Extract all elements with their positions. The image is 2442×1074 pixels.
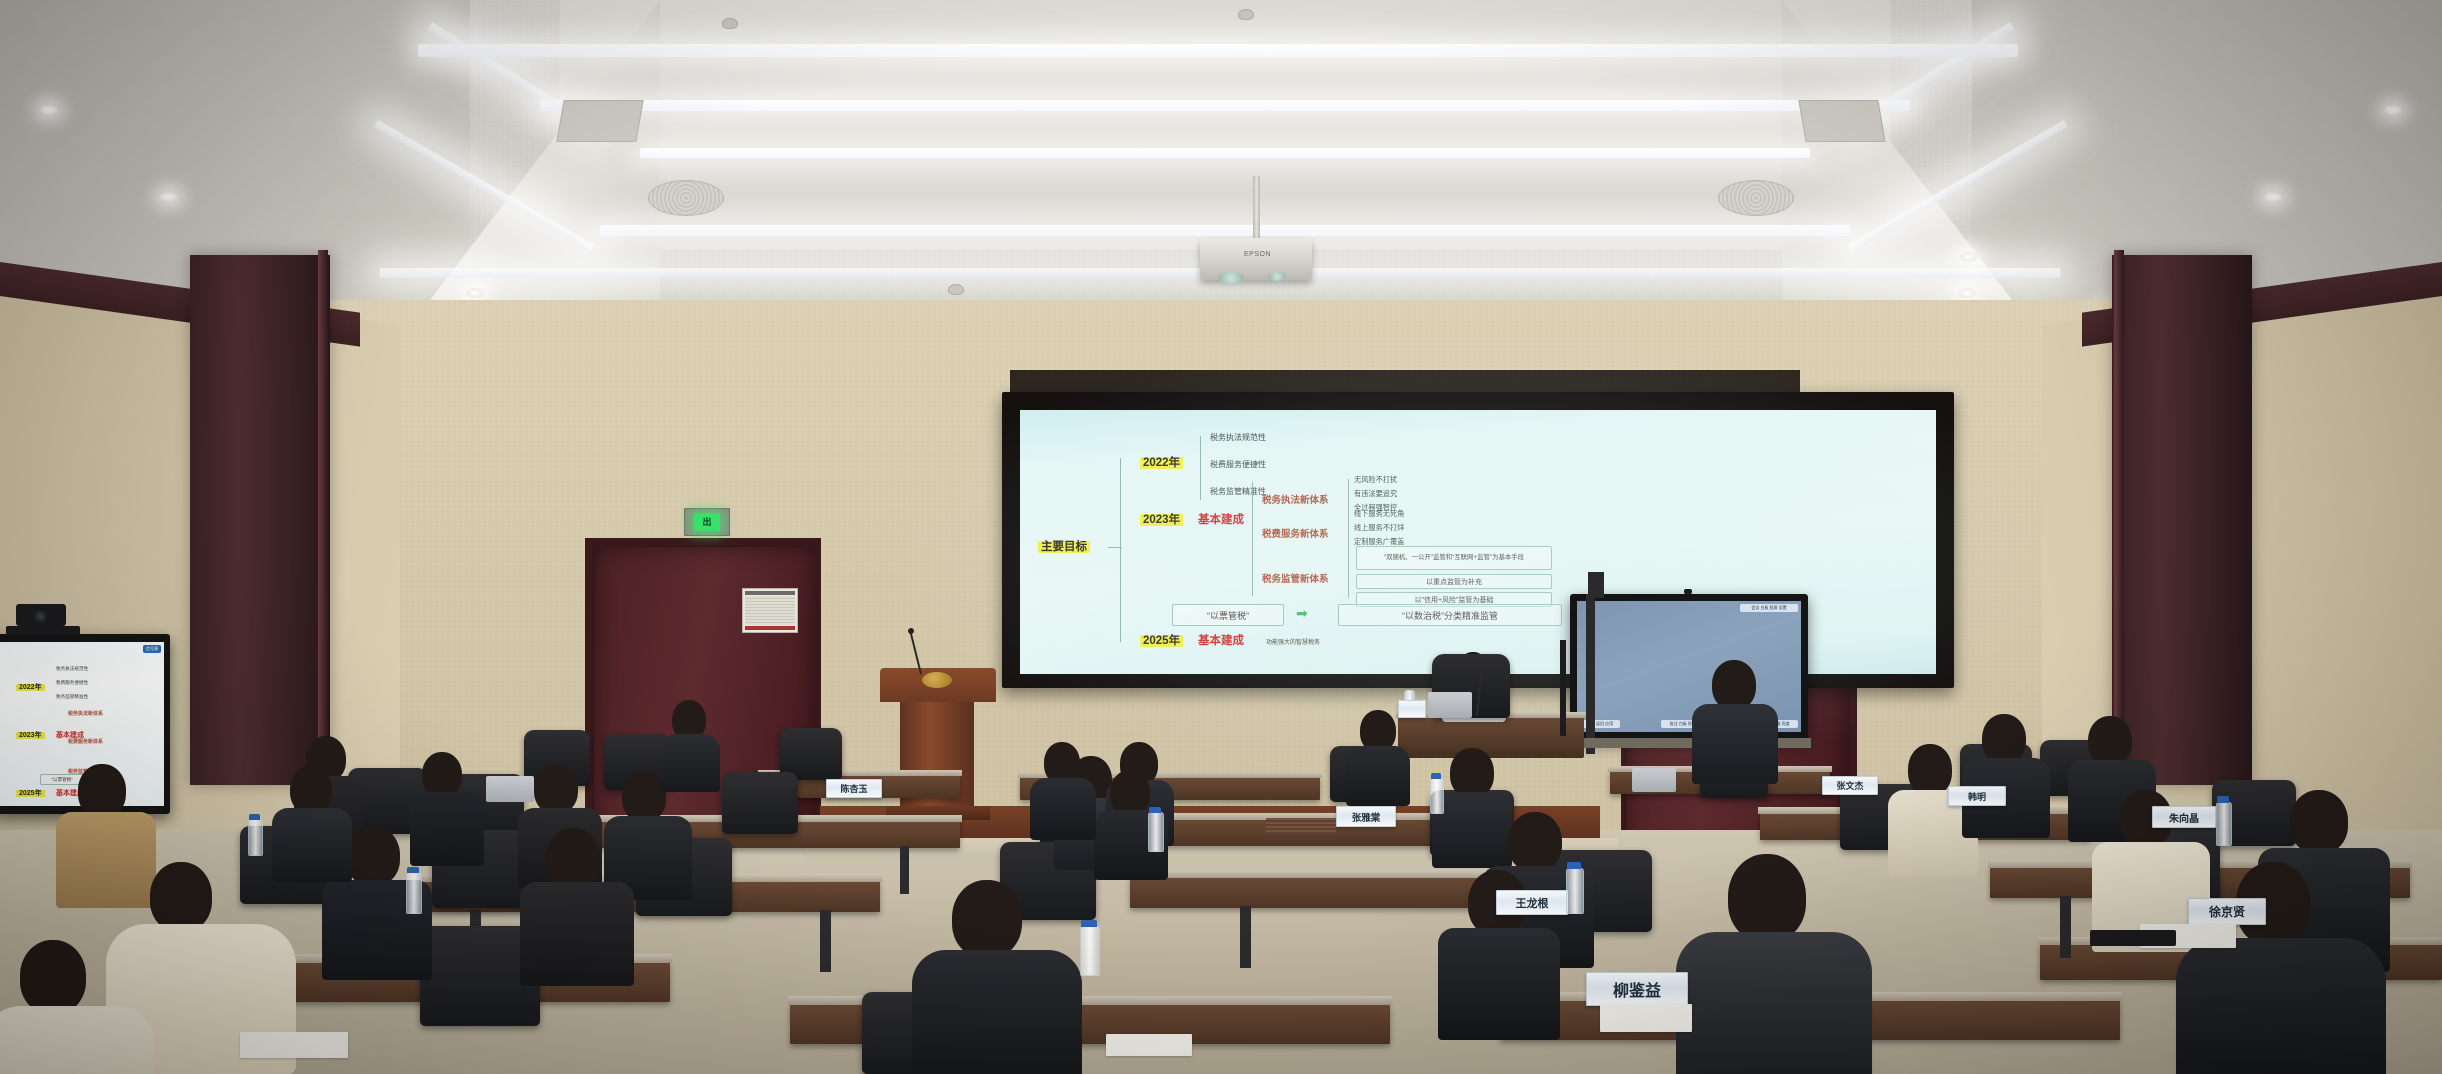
water-bottle-3-cap [1081,920,1097,927]
handout-paper-3[interactable] [240,1032,348,1058]
downlight-2 [160,192,178,202]
ceiling-round-diffuser-right [1718,180,1794,216]
attendee-28-head [290,766,332,814]
downlight-9 [1960,252,1978,262]
attendee-9-body [520,882,634,986]
attendee-25-body [1438,928,1560,1040]
evac-sign-footer-bar [745,626,795,630]
slide-2023-b1-brace [1348,513,1349,549]
exit-sign: 出 [684,508,730,536]
slide-transition-from: “以票管税” [1172,604,1284,626]
attendee-18-head [1982,714,2026,764]
water-bottle-3 [1080,926,1100,976]
slide-2023-brace [1252,482,1253,596]
handout-paper-1[interactable] [1600,1004,1692,1032]
attendee-13-body [1346,746,1410,806]
water-bottle-7 [1430,778,1444,814]
attendee-5-head [78,764,126,818]
slide-2022-item-0: 税务执法规范性 [1210,432,1266,443]
water-bottle-1-cap [249,814,260,820]
attendee-14-body [1432,792,1512,868]
attendee-14-head [1450,748,1494,798]
slide-2023-b1-item-1: 线上服务不打烊 [1354,523,1404,533]
podium-microphone-head [908,628,914,634]
nameplate-3: 柳鉴益 [1586,972,1688,1006]
slide-root-node: 主要目标 [1038,538,1090,554]
ceiling-light-strip-4 [600,225,1850,236]
left-display-2023-head-0: 税务执法新体系 [68,710,103,717]
attendee-26-body [1030,778,1096,840]
attendee-16-body [1692,704,1778,784]
chair-b3[interactable] [722,772,798,834]
attendee-27-body [660,734,720,792]
attendee-16-head [1712,660,1756,710]
left-display-source-badge[interactable]: 信号源 [143,645,161,653]
attendee-7-head [20,940,86,1014]
slide-2023-head-0: 税务执法新体系 [1262,492,1329,506]
exit-sign-glow: 出 [694,513,720,531]
downlight-5 [2384,105,2402,115]
left-display-year-2025: 2025年 [16,788,45,798]
display-toolbar-top-right[interactable]: 会议 白板 投屏 设置 [1740,604,1798,612]
left-display-transition-from: “以票管税” [40,774,84,785]
desk-leg-5 [1240,906,1251,968]
left-display-2023-head-1: 税费服务新体系 [68,738,103,745]
slide-transition-to: “以数治税”分类精准监管 [1338,604,1562,626]
slide-2023-b2-item-1: 以重点监管为补充 [1356,574,1552,589]
desk-leg-4 [820,910,831,972]
water-bottle-7-cap [1431,773,1441,779]
water-bottle-1 [248,818,263,856]
water-bottle-4-cap [1149,807,1161,813]
slide-2025-brace [1120,610,1121,642]
projector-brand-label: EPSON [1244,251,1271,258]
evacuation-plan-sign-left [742,588,798,633]
slide-2025-built-sub: 功能强大的智慧税务 [1266,637,1320,646]
nameplate-5: 徐京贤 [2188,898,2266,925]
presenter-laptop[interactable] [1428,692,1472,718]
water-bottle-5-cap [1567,862,1581,869]
camera-tripod [1560,640,1566,736]
slide-2023-b1-item-0: 线下服务无死角 [1354,509,1404,519]
attendee-15-head [1508,812,1562,872]
podium-emblem [922,672,952,688]
left-display-2022-item-0: 税务执法规范性 [56,666,88,672]
right-display-camera [1684,589,1692,594]
ceiling-tray [560,0,1890,250]
slide-2022-brace [1200,436,1201,500]
ceiling-air-vent-left [556,100,643,142]
slide-2023-b2-brace [1348,546,1349,598]
attendee-laptop-1[interactable] [486,776,534,802]
attendee-7-body [0,1006,154,1074]
right-display-stand-left [1586,594,1595,754]
projector-mount-rod [1253,176,1260,242]
ceiling-air-vent-right [1798,100,1885,142]
attendee-6-head [150,862,212,932]
wall-column-right [2112,255,2252,785]
left-display-2022-item-2: 税务监管精准性 [56,694,88,700]
water-bottle-6 [2216,802,2232,846]
smoke-detector-1 [722,18,738,29]
left-display-webcam [16,604,66,626]
evac-sign-title-bar [745,591,795,595]
projector-lens-secondary [1268,272,1286,281]
slide-2025-built: 基本建成 [1198,632,1244,648]
desk-leg-6 [2060,896,2071,958]
slide-year-2022: 2022年 [1140,454,1183,470]
nameplate-0: 陈杏玉 [826,779,882,798]
left-display-year-2022: 2022年 [16,682,45,692]
projector-body: EPSON [1200,238,1312,280]
slide-trunk-connector [1108,547,1122,548]
slide-2022-item-2: 税务监管精准性 [1210,486,1266,497]
smoke-detector-3 [948,284,964,295]
attendee-5-body [56,812,156,908]
attendee-9-head [546,828,600,888]
conference-room-photo: EPSON 出 主要目标 [0,0,2442,1074]
water-bottle-4 [1148,812,1164,852]
slide-2023-b2-item-0: “双随机、一公开”监管和“互联网+监管”为基本手段 [1356,546,1552,570]
attendee-2-body [410,792,484,866]
ceiling-light-strip-2 [540,100,1910,111]
wall-column-left [190,255,330,785]
desk-rowC-center-edge [1128,870,1532,878]
water-bottle-6-cap [2217,796,2229,803]
attendee-10-body [912,950,1082,1074]
wall-column-left-edge [318,250,328,790]
slide-2023-head-1: 税费服务新体系 [1262,526,1329,540]
left-display-2022-item-1: 税费服务便捷性 [56,680,88,686]
ceiling-round-diffuser-left [648,180,724,216]
attendee-3-head [534,764,578,814]
evac-sign-map [745,596,795,625]
slide-2022-item-1: 税费服务便捷性 [1210,459,1266,470]
left-display-webcam-base [6,626,80,635]
projector-lens [1218,272,1244,284]
head-table [1398,716,1584,758]
ceiling-light-strip-1 [418,44,2018,57]
left-display-year-2023: 2023年 [16,730,45,740]
downlight-8 [1958,288,1976,298]
slide-2023-b0-brace [1348,479,1349,513]
downlight-1 [40,105,58,115]
nameplate-2: 王龙根 [1496,890,1568,915]
slide-2023-b0-item-1: 有违法要追究 [1354,489,1397,499]
downlight-4 [466,288,484,298]
attendee-21-head [2290,790,2348,854]
downlight-6 [2264,192,2282,202]
water-bottle-2 [406,872,422,914]
water-bottle-5 [1566,868,1584,914]
slide-year-2025: 2025年 [1140,632,1183,648]
desk-leg-2 [900,846,909,894]
stage-vent-grille [1266,818,1336,834]
slide-2023-head-2: 税务监管新体系 [1262,571,1329,585]
ceiling-light-strip-3 [640,148,1810,158]
attendee-22-body [1676,932,1872,1074]
left-display-webcam-lens [34,610,47,623]
nameplate-1: 张雅棠 [1336,806,1396,827]
attendee-laptop-2[interactable] [1632,768,1676,792]
nameplate-7: 张文杰 [1822,776,1878,795]
attendee-17-head [1908,744,1952,796]
slide-year-2023: 2023年 [1140,511,1183,527]
head-table-nameplate [1398,700,1426,718]
wall-column-right-edge [2114,250,2124,790]
attendee-10-head [952,880,1022,958]
attendee-22-head [1728,854,1806,942]
water-bottle-2-cap [407,867,419,873]
slide-transition-arrow: ➡ [1296,606,1308,620]
smoke-detector-2 [1238,9,1254,20]
attendee-19-head [2088,716,2132,766]
nameplate-4: 朱向晶 [2152,806,2216,828]
slide-2023-b0-item-0: 无风险不打扰 [1354,475,1397,485]
attendee-8-head [346,826,400,886]
attendee-28-body [272,808,352,882]
tablet-on-desk[interactable] [2090,930,2176,946]
right-display-speaker [1588,572,1604,598]
nameplate-6: 韩明 [1948,786,2006,806]
handout-paper-4[interactable] [1106,1034,1192,1056]
slide-2023-built: 基本建成 [1198,511,1244,527]
attendee-23-body [2176,938,2386,1074]
